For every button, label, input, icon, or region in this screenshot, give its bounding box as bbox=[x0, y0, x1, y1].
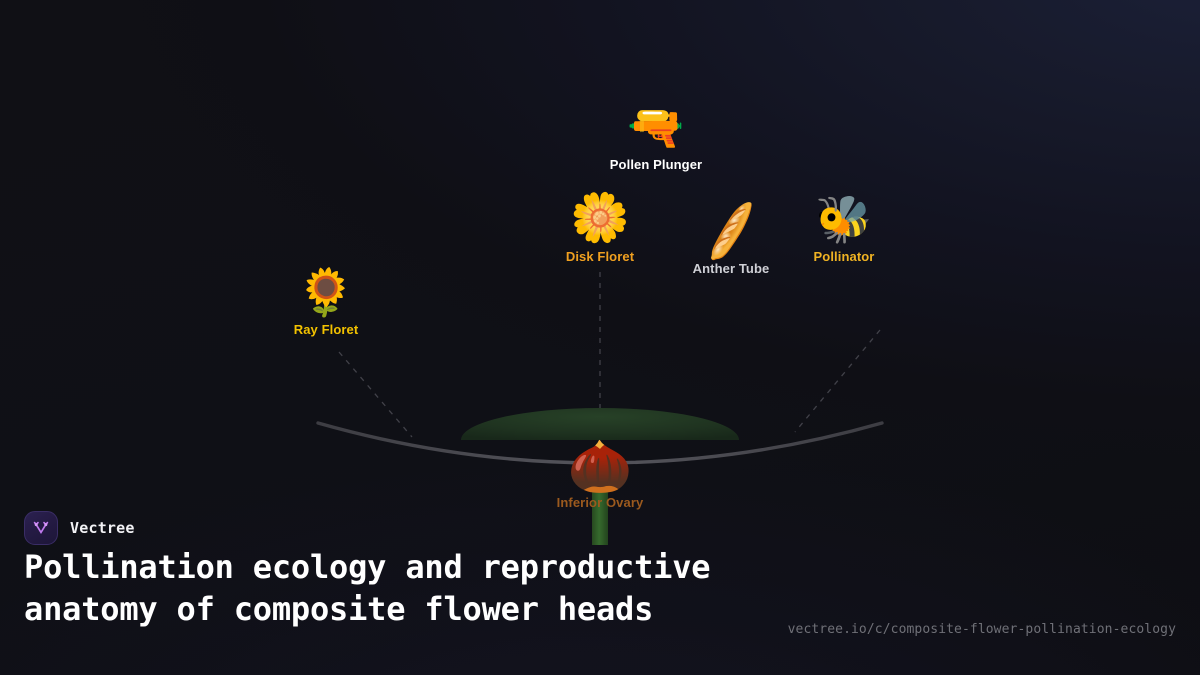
vectree-sprout-icon bbox=[24, 511, 58, 545]
node-inferior-ovary[interactable]: 🌰 Inferior Ovary bbox=[557, 441, 644, 510]
node-label-ray-floret: Ray Floret bbox=[294, 322, 359, 337]
connector-pollinator bbox=[795, 330, 880, 432]
honeybee-icon: 🐝 bbox=[815, 196, 872, 242]
page-title: Pollination ecology and reproductive ana… bbox=[24, 546, 784, 630]
node-pollinator[interactable]: 🐝 Pollinator bbox=[814, 196, 875, 264]
sunflower-icon: 🌻 bbox=[297, 269, 354, 315]
brand-lockup: Vectree bbox=[24, 511, 135, 545]
node-label-anther-tube: Anther Tube bbox=[693, 261, 770, 276]
receptacle-dome bbox=[461, 408, 739, 440]
baguette-icon: 🥖 bbox=[698, 203, 764, 260]
node-disk-floret[interactable]: 🌼 Disk Floret bbox=[566, 194, 634, 264]
node-anther-tube[interactable]: 🥖 Anther Tube bbox=[693, 208, 770, 276]
blossom-icon: 🌼 bbox=[570, 194, 630, 242]
brand-name: Vectree bbox=[70, 519, 135, 537]
node-label-disk-floret: Disk Floret bbox=[566, 249, 634, 264]
connector-ray-floret bbox=[339, 352, 412, 437]
chestnut-icon: 🌰 bbox=[568, 441, 633, 493]
node-label-pollinator: Pollinator bbox=[814, 249, 875, 264]
node-label-pollen-plunger: Pollen Plunger bbox=[610, 157, 702, 172]
node-pollen-plunger[interactable]: 🔫 Pollen Plunger bbox=[610, 104, 702, 172]
node-ray-floret[interactable]: 🌻 Ray Floret bbox=[294, 269, 359, 337]
water-pistol-icon: 🔫 bbox=[627, 104, 684, 150]
node-label-inferior-ovary: Inferior Ovary bbox=[557, 495, 644, 510]
footer-url: vectree.io/c/composite-flower-pollinatio… bbox=[788, 622, 1176, 637]
